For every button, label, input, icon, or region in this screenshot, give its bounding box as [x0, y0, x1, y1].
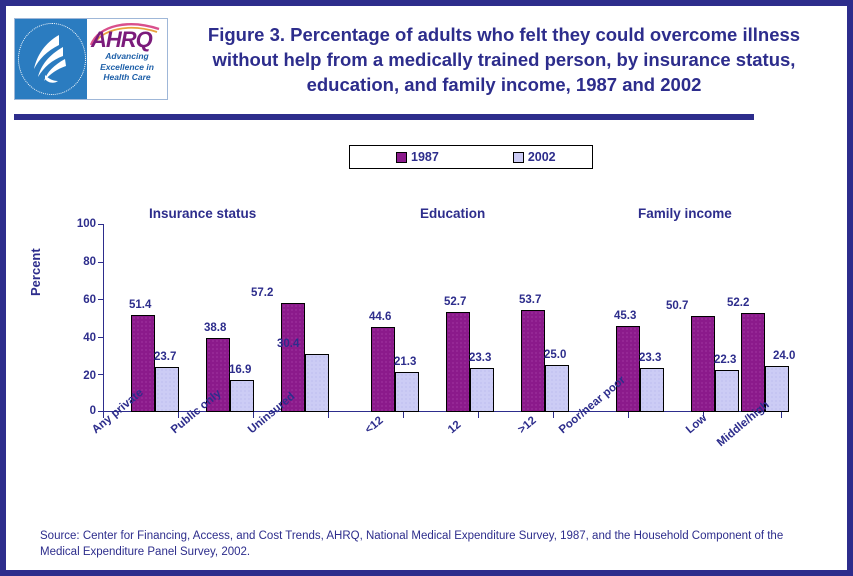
- y-tick-label-20: 20: [68, 370, 96, 382]
- bar-value-2002-12: 23.3: [469, 352, 491, 364]
- x-tickmark-7: [628, 412, 629, 418]
- bar-value-1987-middle-high: 52.2: [727, 297, 749, 309]
- bar-value-2002-lt12: 21.3: [394, 356, 416, 368]
- bar-1987-middle-high: [741, 313, 765, 412]
- y-tick-label-0: 0: [68, 405, 96, 417]
- source-note: Source: Center for Financing, Access, an…: [40, 528, 810, 560]
- y-axis-label: Percent: [28, 248, 43, 296]
- bar-value-2002-poor-near-poor: 23.3: [639, 352, 661, 364]
- y-tick-label-60: 60: [68, 294, 96, 306]
- bar-value-2002-any-private: 23.7: [154, 351, 176, 363]
- chart-plot-area: Insurance status Education Family income…: [6, 6, 847, 570]
- bar-value-1987-any-private: 51.4: [129, 299, 151, 311]
- bar-value-1987-gt12: 53.7: [519, 294, 541, 306]
- bar-2002-gt12: [545, 365, 569, 412]
- bar-2002-low: [715, 370, 739, 412]
- bar-value-1987-low: 50.7: [666, 300, 688, 312]
- bar-1987-low: [691, 316, 715, 412]
- bar-value-1987-public-only: 38.8: [204, 322, 226, 334]
- bar-value-2002-low: 22.3: [714, 354, 736, 366]
- bar-value-1987-lt12: 44.6: [369, 311, 391, 323]
- x-tickmark-3: [328, 412, 329, 418]
- bar-value-2002-gt12: 25.0: [544, 349, 566, 361]
- figure-page: AHRQ Advancing Excellence in Health Care…: [0, 0, 853, 576]
- bar-1987-12: [446, 312, 470, 412]
- bar-2002-any-private: [155, 367, 179, 412]
- x-axis-label-lt12: <12: [363, 414, 386, 436]
- bar-2002-12: [470, 368, 494, 412]
- x-tickmark-2: [253, 412, 254, 418]
- group-heading-family-income: Family income: [638, 206, 732, 221]
- x-axis-label-low: Low: [684, 412, 709, 436]
- y-axis-line: [103, 224, 104, 412]
- group-heading-education: Education: [420, 206, 485, 221]
- bar-value-1987-12: 52.7: [444, 296, 466, 308]
- x-tickmark-9: [781, 412, 782, 418]
- bar-value-1987-uninsured: 57.2: [251, 287, 273, 299]
- bar-2002-lt12: [395, 372, 419, 412]
- x-tickmark-6: [553, 412, 554, 418]
- x-tickmark-5: [478, 412, 479, 418]
- bar-1987-poor-near-poor: [616, 326, 640, 412]
- x-tickmark-4: [403, 412, 404, 418]
- y-tick-label-40: 40: [68, 332, 96, 344]
- group-heading-insurance-status: Insurance status: [149, 206, 256, 221]
- bar-value-2002-middle-high: 24.0: [773, 350, 795, 362]
- bar-value-1987-poor-near-poor: 45.3: [614, 310, 636, 322]
- bar-value-2002-public-only: 16.9: [229, 364, 251, 376]
- bar-2002-poor-near-poor: [640, 368, 664, 412]
- y-tick-label-100: 100: [68, 218, 96, 230]
- bar-1987-lt12: [371, 327, 395, 412]
- bar-value-2002-uninsured: 30.4: [277, 338, 299, 350]
- bar-2002-public-only: [230, 380, 254, 412]
- bar-1987-gt12: [521, 310, 545, 412]
- x-axis-label-gt12: >12: [516, 414, 539, 436]
- y-tick-label-80: 80: [68, 256, 96, 268]
- x-axis-label-12: 12: [446, 419, 464, 436]
- bar-2002-uninsured: [305, 354, 329, 412]
